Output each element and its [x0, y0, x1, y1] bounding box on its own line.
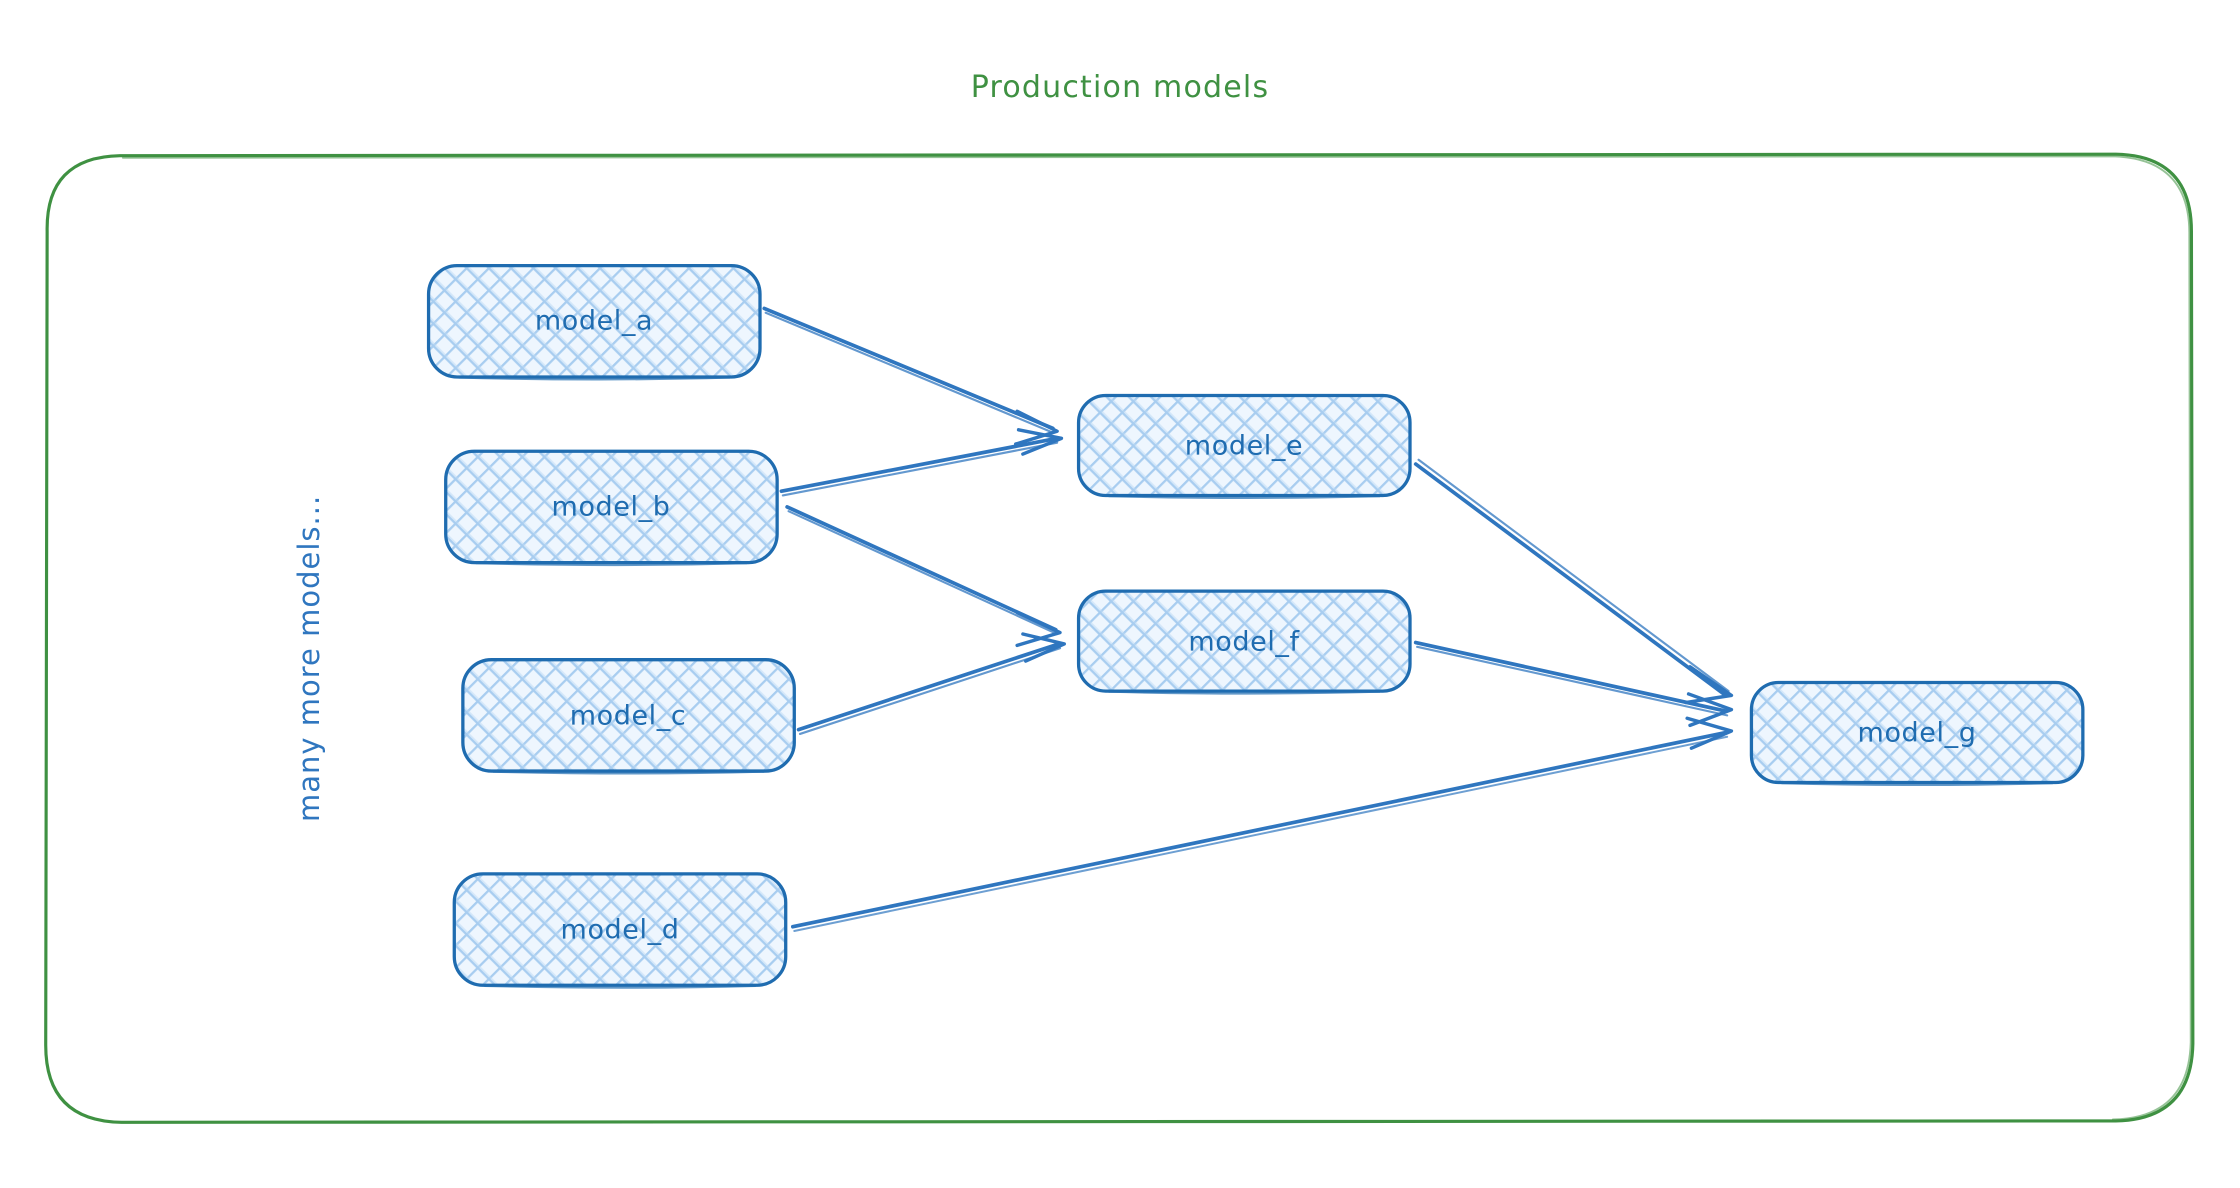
node-model-d[interactable] — [454, 874, 785, 988]
node-model-b[interactable] — [446, 451, 777, 565]
node-model-e[interactable] — [1079, 396, 1410, 498]
node-layer — [429, 266, 2083, 988]
edge-model-a-to-model-e — [764, 308, 1057, 444]
edge-model-b-to-model-b-e — [781, 430, 1061, 496]
node-model-g[interactable] — [1751, 683, 2082, 785]
edge-model-c-to-model-f — [799, 634, 1065, 734]
many-more-models-note: many more models... — [292, 495, 326, 822]
edge-model-d-to-model-g — [793, 718, 1732, 931]
diagram-svg — [0, 0, 2240, 1188]
edge-model-b-to-model-f — [787, 507, 1060, 646]
node-model-c[interactable] — [463, 660, 794, 774]
edge-model-f-to-model-g — [1416, 643, 1732, 726]
node-model-a[interactable] — [429, 266, 760, 380]
edge-model-e-to-model-g — [1416, 460, 1732, 703]
diagram-canvas: Production models — [0, 0, 2240, 1188]
node-model-f[interactable] — [1079, 591, 1410, 693]
